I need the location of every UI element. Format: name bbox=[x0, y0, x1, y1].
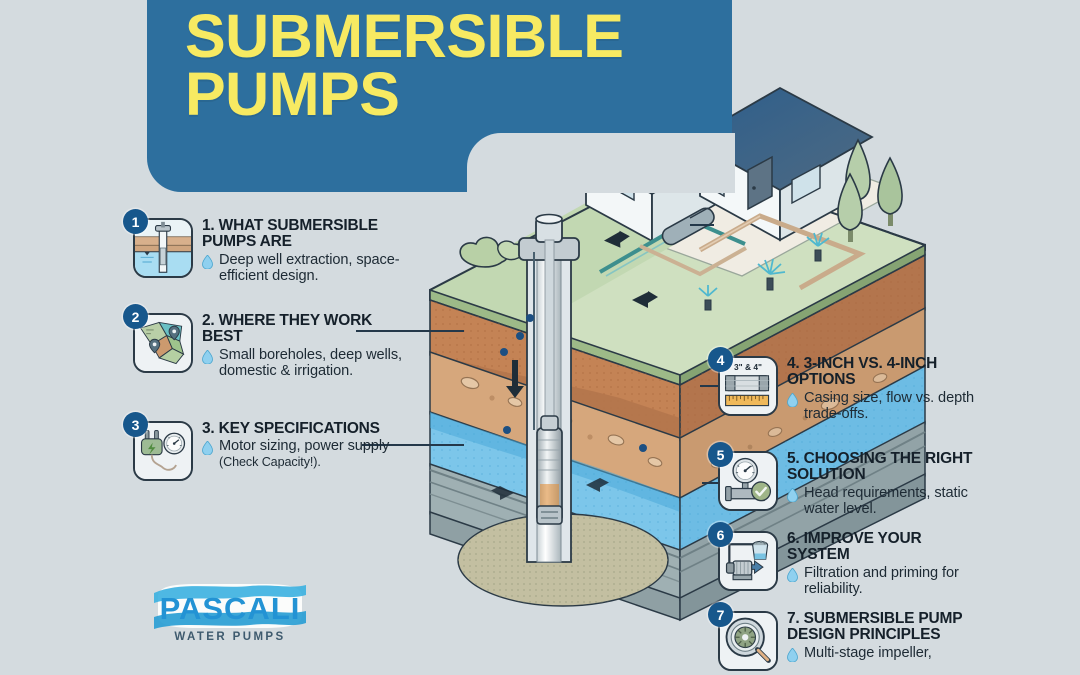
icon-wrap-7: 7 bbox=[718, 611, 778, 671]
icon-wrap-1: 1 bbox=[133, 218, 193, 278]
connector-line-4 bbox=[690, 224, 714, 226]
item-heading-7: 7. SUBMERSIBLE PUMP DESIGN PRINCIPLES bbox=[787, 611, 987, 644]
text-2: 2. WHERE THEY WORK BEST Small boreholes,… bbox=[202, 313, 402, 379]
list-item-6[interactable]: 6 6. IMPR bbox=[718, 531, 987, 597]
water-drop-icon bbox=[787, 393, 798, 407]
list-item-5[interactable]: 5 5. CHOOSING THE RI bbox=[718, 451, 987, 517]
bullet-text-2: Small boreholes, deep wells, domestic & … bbox=[219, 347, 402, 379]
item-heading-5: 5. CHOOSING THE RIGHT SOLUTION bbox=[787, 451, 987, 484]
water-drop-icon bbox=[202, 350, 213, 364]
item-bullet-3: Motor sizing, power supply (Check Capaci… bbox=[202, 438, 402, 470]
item-bullet-1: Deep well extraction, space-efficient de… bbox=[202, 252, 402, 284]
icon-wrap-5: 5 bbox=[718, 451, 778, 511]
item-bullet-4: Casing size, flow vs. depth trade-offs. bbox=[787, 390, 987, 422]
submersible-pump bbox=[537, 416, 562, 524]
logo-tagline: WATER PUMPS bbox=[150, 631, 310, 643]
item-heading-1: 1. WHAT SUBMERSIBLE PUMPS ARE bbox=[202, 218, 402, 251]
text-5: 5. CHOOSING THE RIGHT SOLUTION Head requ… bbox=[787, 451, 987, 517]
water-drop-icon bbox=[202, 255, 213, 269]
water-drop-icon bbox=[787, 568, 798, 582]
water-drop-icon bbox=[202, 441, 213, 455]
icon-wrap-2: 2 bbox=[133, 313, 193, 373]
item-heading-2: 2. WHERE THEY WORK BEST bbox=[202, 313, 402, 346]
bullet-text-1: Deep well extraction, space-efficient de… bbox=[219, 252, 400, 284]
bullet-text-6: Filtration and priming for reliability. bbox=[804, 565, 959, 597]
badge-number-3: 3 bbox=[123, 412, 148, 437]
list-item-2[interactable]: 2 2. WHERE THEY WORK BEST bbox=[133, 313, 402, 379]
bullet-text-3: Motor sizing, power supply bbox=[219, 438, 389, 454]
text-6: 6. IMPROVE YOUR SYSTEM Filtration and pr… bbox=[787, 531, 987, 597]
bullet-text-5: Head requirements, static water level. bbox=[804, 485, 968, 517]
item-heading-3: 3. KEY SPECIFICATIONS bbox=[202, 421, 402, 437]
list-item-3[interactable]: 3 3. KEY SPECIFICATIONS bbox=[133, 421, 402, 481]
item-heading-4: 4. 3-INCH VS. 4-INCH OPTIONS bbox=[787, 356, 987, 389]
bullet-text-4: Casing size, flow vs. depth trade-offs. bbox=[804, 390, 974, 422]
text-1: 1. WHAT SUBMERSIBLE PUMPS ARE Deep well … bbox=[202, 218, 402, 284]
item-bullet-5: Head requirements, static water level. bbox=[787, 485, 987, 517]
item-bullet-2: Small boreholes, deep wells, domestic & … bbox=[202, 347, 402, 379]
item-bullet-7: Multi-stage impeller, bbox=[787, 645, 987, 661]
badge-number-5: 5 bbox=[708, 442, 733, 467]
icon-wrap-4: 4 3" & 4" bbox=[718, 356, 778, 416]
list-item-7[interactable]: 7 bbox=[718, 611, 987, 671]
bullet-text-7: Multi-stage impeller, bbox=[804, 645, 932, 661]
text-3: 3. KEY SPECIFICATIONS Motor sizing, powe… bbox=[202, 421, 402, 471]
badge-number-2: 2 bbox=[123, 304, 148, 329]
logo-wordmark: PASCALI bbox=[150, 591, 310, 627]
badge-number-1: 1 bbox=[123, 209, 148, 234]
bullet-text-3-note: (Check Capacity!). bbox=[219, 455, 321, 469]
badge-number-7: 7 bbox=[708, 602, 733, 627]
icon-label-4: 3" & 4" bbox=[734, 362, 762, 372]
title-line-2: PUMPS bbox=[185, 66, 745, 124]
list-item-1[interactable]: 1 1. WHAT SUBMERSIBL bbox=[133, 218, 402, 284]
water-drop-icon bbox=[787, 648, 798, 662]
text-7: 7. SUBMERSIBLE PUMP DESIGN PRINCIPLES Mu… bbox=[787, 611, 987, 661]
text-4: 4. 3-INCH VS. 4-INCH OPTIONS Casing size… bbox=[787, 356, 987, 422]
item-heading-6: 6. IMPROVE YOUR SYSTEM bbox=[787, 531, 987, 564]
infographic-canvas: SUBMERSIBLE PUMPS 1 bbox=[0, 0, 1080, 675]
icon-wrap-3: 3 bbox=[133, 421, 193, 481]
list-item-4[interactable]: 4 3" & 4" 4. 3-INCH VS. 4-INCH OPTIONS bbox=[718, 356, 987, 422]
badge-number-6: 6 bbox=[708, 522, 733, 547]
page-title: SUBMERSIBLE PUMPS bbox=[185, 8, 745, 124]
water-drop-icon bbox=[787, 488, 798, 502]
badge-number-4: 4 bbox=[708, 347, 733, 372]
brand-logo[interactable]: PASCALI WATER PUMPS bbox=[150, 583, 310, 661]
item-bullet-6: Filtration and priming for reliability. bbox=[787, 565, 987, 597]
icon-wrap-6: 6 bbox=[718, 531, 778, 591]
